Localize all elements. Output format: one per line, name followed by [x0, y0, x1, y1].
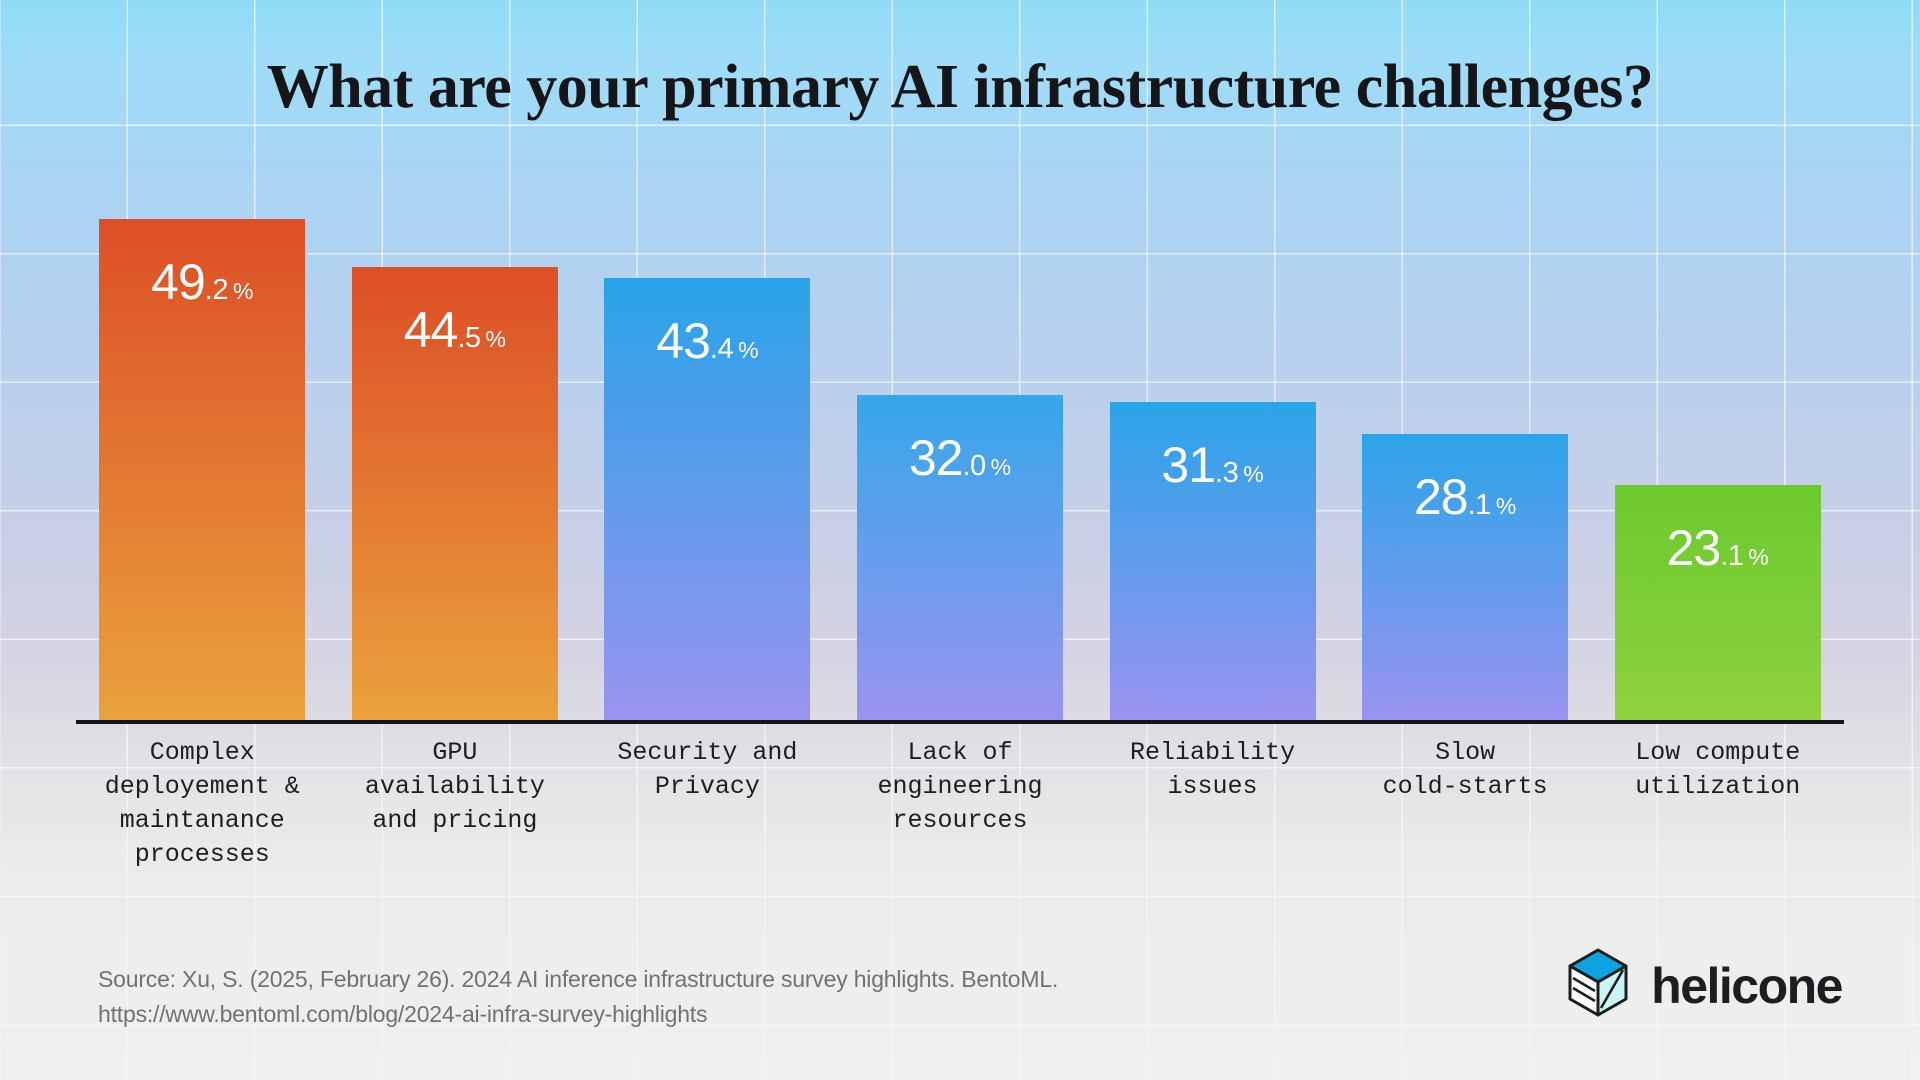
x-tick-label: Security and Privacy	[581, 736, 834, 804]
bar-value-decimal: .2	[205, 274, 228, 306]
helicone-cube-icon	[1567, 948, 1629, 1023]
bar-value-decimal: .4	[710, 333, 733, 365]
chart-canvas: What are your primary AI infrastructure …	[0, 0, 1920, 1080]
source-line-2: https://www.bentoml.com/blog/2024-ai-inf…	[98, 997, 1058, 1032]
bar-value-integer: 31	[1161, 437, 1215, 493]
x-tick-label: Reliability issues	[1086, 736, 1339, 804]
plot-area: 49.2%44.5%43.4%32.0%31.3%28.1%23.1%	[76, 150, 1844, 721]
bar-group: 31.3%	[1110, 402, 1316, 721]
bar-value-percent-sign: %	[486, 326, 506, 352]
brand-lockup: helicone	[1567, 948, 1842, 1023]
brand-name: helicone	[1651, 957, 1842, 1015]
x-tick-label: Low compute utilization	[1591, 736, 1844, 804]
bar-value-label: 32.0%	[857, 433, 1063, 483]
bar-value-integer: 32	[909, 430, 963, 486]
bar-value-integer: 43	[656, 313, 710, 369]
x-tick-label: Slow cold-starts	[1339, 736, 1592, 804]
bar-value-percent-sign: %	[1748, 544, 1768, 570]
bar-value-percent-sign: %	[1243, 461, 1263, 487]
bar-value-percent-sign: %	[233, 278, 253, 304]
page-title: What are your primary AI infrastructure …	[0, 52, 1920, 123]
x-tick-label: Complex deployement & maintanance proces…	[76, 736, 329, 872]
bar-value-percent-sign: %	[991, 454, 1011, 480]
bar-value-decimal: .1	[1720, 540, 1743, 572]
bar-value-label: 49.2%	[99, 257, 305, 307]
bar-value-integer: 44	[404, 302, 458, 358]
bar-group: 28.1%	[1362, 434, 1568, 721]
bar-group: 49.2%	[99, 219, 305, 721]
bar-value-label: 44.5%	[352, 305, 558, 355]
bar-value-percent-sign: %	[1496, 493, 1516, 519]
bar-value-decimal: .1	[1468, 489, 1491, 521]
x-axis-line	[76, 720, 1844, 724]
bar-value-label: 43.4%	[604, 316, 810, 366]
x-tick-label: Lack of engineering resources	[834, 736, 1087, 838]
x-tick-label: GPU availability and pricing	[329, 736, 582, 838]
bar-group: 43.4%	[604, 278, 810, 721]
bar-value-label: 28.1%	[1362, 472, 1568, 522]
bar-value-percent-sign: %	[738, 337, 758, 363]
bar-value-integer: 28	[1414, 469, 1468, 525]
bar-value-decimal: .5	[457, 322, 480, 354]
bar-group: 44.5%	[352, 267, 558, 721]
source-citation: Source: Xu, S. (2025, February 26). 2024…	[98, 962, 1058, 1032]
bar-value-integer: 49	[151, 254, 205, 310]
bar-group: 23.1%	[1615, 485, 1821, 721]
bar-group: 32.0%	[857, 395, 1063, 721]
source-line-1: Source: Xu, S. (2025, February 26). 2024…	[98, 962, 1058, 997]
bar-value-decimal: .3	[1215, 457, 1238, 489]
bar-value-label: 23.1%	[1615, 523, 1821, 573]
bar-value-label: 31.3%	[1110, 440, 1316, 490]
bar-value-decimal: .0	[962, 450, 985, 482]
bar-value-integer: 23	[1667, 520, 1721, 576]
x-axis-tick-labels: Complex deployement & maintanance proces…	[76, 736, 1844, 876]
